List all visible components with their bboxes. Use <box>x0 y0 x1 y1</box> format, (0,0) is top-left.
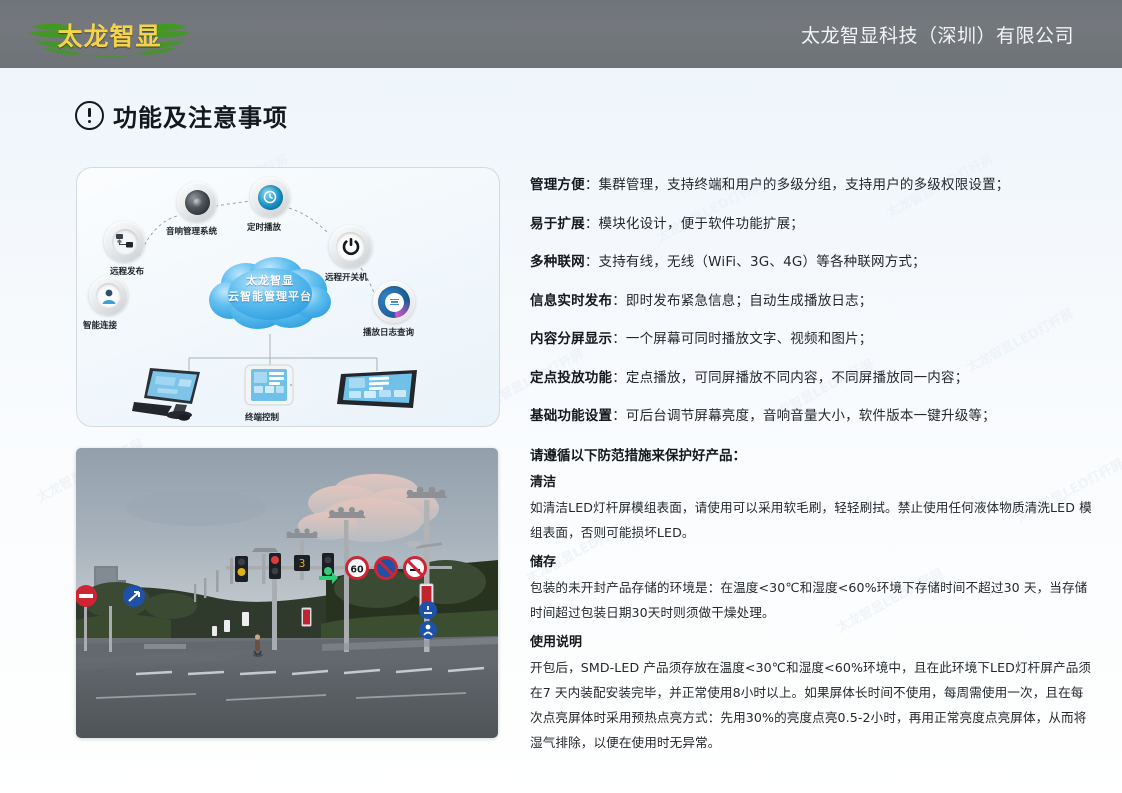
care-block-text: 包装的未开封产品存储的环境是：在温度<30℃和湿度<60%环境下存储时间不超过3… <box>530 575 1096 625</box>
timer-play-icon <box>258 185 283 210</box>
cloud-line-1: 太龙智显 <box>206 273 334 289</box>
logo-text: 太龙智显 <box>22 9 197 61</box>
speaker-icon <box>185 190 210 215</box>
photo-artwork: 3 60 <box>76 448 498 738</box>
feature-list: 管理方便：集群管理，支持终端和用户的多级分组，支持用户的多级权限设置； 易于扩展… <box>530 175 1090 445</box>
diagram-node-audio[interactable] <box>177 182 217 222</box>
diagram-node-power[interactable] <box>329 225 372 268</box>
feature-term: 信息实时发布 <box>530 293 612 309</box>
desktop-computer-icon <box>132 364 222 422</box>
diagram-node-remote-publish-label: 远程发布 <box>110 265 144 277</box>
platform-diagram-card: 音响管理系统 定时播放 远程发布 <box>76 167 500 427</box>
care-instructions: 请遵循以下防范措施来保护好产品： 清洁 如清洁LED灯杆屏模组表面，请使用可以采… <box>530 444 1096 761</box>
feature-desc: ：即时发布紧急信息；自动生成播放日志； <box>612 293 872 309</box>
diagram-node-timer-label: 定时播放 <box>247 221 281 233</box>
diagram-node-remote-publish[interactable] <box>104 221 145 262</box>
care-block-text: 如清洁LED灯杆屏模组表面，请使用可以采用软毛刷，轻轻刷拭。禁止使用任何液体物质… <box>530 495 1096 545</box>
user-connect-icon <box>96 283 121 308</box>
company-name: 太龙智显科技（深圳）有限公司 <box>801 0 1074 68</box>
feature-item: 内容分屏显示：一个屏幕可同时播放文字、视频和图片； <box>530 329 1090 349</box>
diagram-node-smart-connect-label: 智能连接 <box>83 319 117 331</box>
feature-term: 多种联网 <box>530 254 585 270</box>
brand-logo: 太龙智显 <box>22 9 197 61</box>
network-publish-icon <box>112 229 138 255</box>
diagram-node-audio-label: 音响管理系统 <box>166 225 217 237</box>
feature-desc: ：支持有线，无线（WiFi、3G、4G）等各种联网方式； <box>585 254 926 270</box>
feature-item: 信息实时发布：即时发布紧急信息；自动生成播放日志； <box>530 291 1090 311</box>
exclamation-circle-icon <box>75 101 104 130</box>
care-block-title: 清洁 <box>530 471 1096 490</box>
section-title: 功能及注意事项 <box>75 98 288 133</box>
feature-item: 基础功能设置：可后台调节屏幕亮度，音响音量大小，软件版本一键升级等； <box>530 406 1090 426</box>
terminal-control-label: 终端控制 <box>245 411 279 423</box>
feature-desc: ：定点播放，可同屏播放不同内容，不同屏播放同一内容； <box>612 370 968 386</box>
feature-item: 管理方便：集群管理，支持终端和用户的多级分组，支持用户的多级权限设置； <box>530 175 1090 195</box>
feature-desc: ：可后台调节屏幕亮度，音响音量大小，软件版本一键升级等； <box>612 408 996 424</box>
page-title: 功能及注意事项 <box>113 98 288 133</box>
care-block-title: 储存 <box>530 551 1096 570</box>
feature-term: 易于扩展 <box>530 216 585 232</box>
feature-item: 易于扩展：模块化设计，便于软件功能扩展； <box>530 214 1090 234</box>
care-heading: 请遵循以下防范措施来保护好产品： <box>530 444 1096 464</box>
care-block-text: 开包后，SMD-LED 产品须存放在温度<30℃和湿度<60%环境中，且在此环境… <box>530 655 1096 755</box>
feature-item: 定点投放功能：定点播放，可同屏播放不同内容，不同屏播放同一内容； <box>530 368 1090 388</box>
street-installation-photo: 3 60 <box>76 448 498 738</box>
svg-text:3: 3 <box>299 557 306 570</box>
feature-desc: ：一个屏幕可同时播放文字、视频和图片； <box>612 331 872 347</box>
feature-term: 定点投放功能 <box>530 370 612 386</box>
diagram-node-timer[interactable] <box>250 177 290 217</box>
svg-text:60: 60 <box>350 565 364 576</box>
diagram-node-play-log[interactable] <box>373 281 415 323</box>
feature-term: 内容分屏显示 <box>530 331 612 347</box>
diagram-node-smart-connect[interactable] <box>89 276 128 315</box>
tablet-icon <box>335 368 421 416</box>
cloud-line-2: 云智能管理平台 <box>206 289 334 305</box>
feature-term: 管理方便 <box>530 177 585 193</box>
care-block-title: 使用说明 <box>530 631 1096 650</box>
feature-item: 多种联网：支持有线，无线（WiFi、3G、4G）等各种联网方式； <box>530 252 1090 272</box>
smartphone-icon <box>243 364 295 412</box>
log-donut-icon <box>378 286 410 318</box>
feature-desc: ：模块化设计，便于软件功能扩展； <box>585 216 804 232</box>
page-header: 太龙智显 太龙智显科技（深圳）有限公司 <box>0 0 1122 68</box>
feature-desc: ：集群管理，支持终端和用户的多级分组，支持用户的多级权限设置； <box>585 177 1010 193</box>
feature-term: 基础功能设置 <box>530 408 612 424</box>
cloud-platform-label: 太龙智显 云智能管理平台 <box>206 273 334 305</box>
power-icon <box>336 232 365 261</box>
diagram-node-play-log-label: 播放日志查询 <box>363 326 414 338</box>
product-manual-page: 太龙智显 太龙智显科技（深圳）有限公司 太龙智显LED灯杆屏 太龙智显LED灯杆… <box>0 0 1122 793</box>
